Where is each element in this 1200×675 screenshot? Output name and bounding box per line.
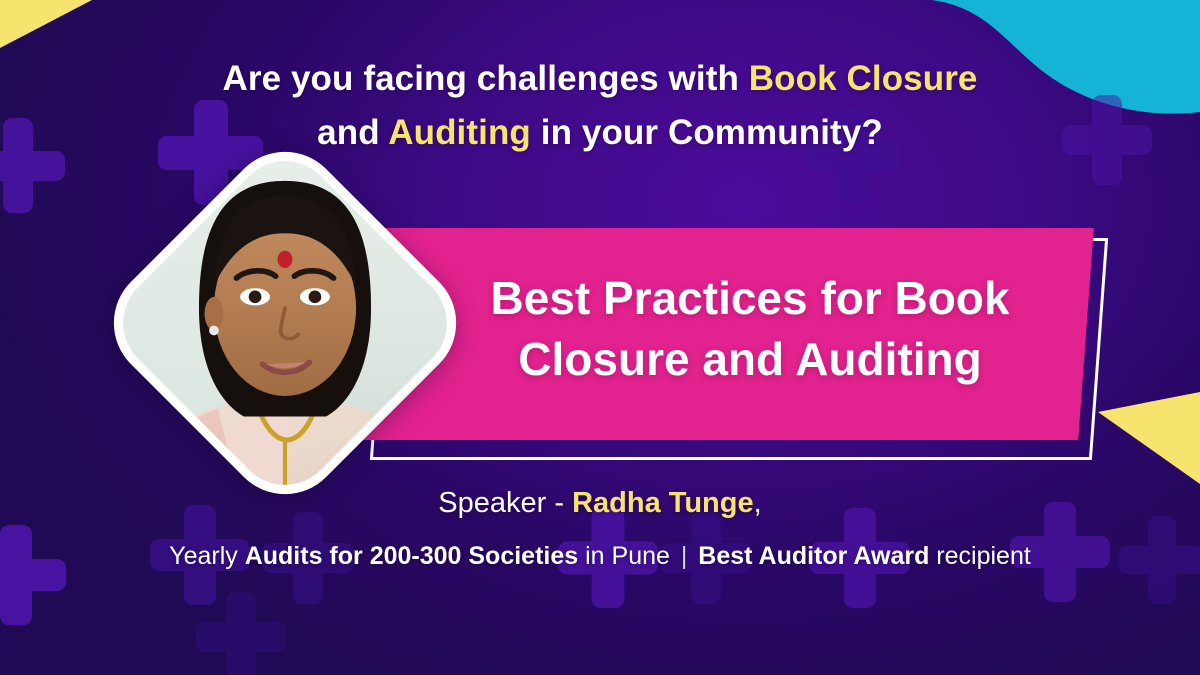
credentials-recipient: recipient <box>929 542 1030 570</box>
page-title: Are you facing challenges with Book Clos… <box>0 52 1200 159</box>
speaker-name-suffix: , <box>754 487 762 519</box>
headline-line-2: and Auditing in your Community? <box>0 106 1200 160</box>
headline-line-1: Are you facing challenges with Book Clos… <box>0 52 1200 106</box>
credentials-award: Best Auditor Award <box>691 542 929 570</box>
yellow-triangle-top-left-icon <box>0 0 92 48</box>
plus-shape-icon <box>196 592 286 675</box>
plus-shape-icon <box>0 525 66 625</box>
credentials-yearly-cap: Y <box>169 542 183 570</box>
session-title: Best Practices for Book Closure and Audi… <box>430 268 1070 390</box>
headline-accent-auditing: Auditing <box>388 113 531 152</box>
headline-line1-text: Are you facing challenges with <box>222 59 748 98</box>
credentials-separator: | <box>677 542 692 570</box>
headline-line2-suffix: in your Community? <box>531 113 883 152</box>
speaker-name: Radha Tunge <box>572 487 754 519</box>
credentials-yearly-rest: early <box>184 542 245 570</box>
promotional-banner: Are you facing challenges with Book Clos… <box>0 0 1200 675</box>
credentials-location: in Pune <box>578 542 677 570</box>
session-title-line-1: Best Practices for Book <box>430 268 1070 329</box>
speaker-label: Speaker - <box>438 487 572 519</box>
speaker-name-line: Speaker - Radha Tunge, <box>0 487 1200 520</box>
headline-accent-book-closure: Book Closure <box>749 59 978 98</box>
session-title-line-2: Closure and Auditing <box>430 329 1070 390</box>
speaker-credentials: Yearly Audits for 200-300 Societies in P… <box>0 542 1200 571</box>
headline-line2-prefix: and <box>317 113 388 152</box>
credentials-audits: Audits for 200-300 Societies <box>245 542 578 570</box>
yellow-triangle-right-icon <box>1098 392 1200 484</box>
